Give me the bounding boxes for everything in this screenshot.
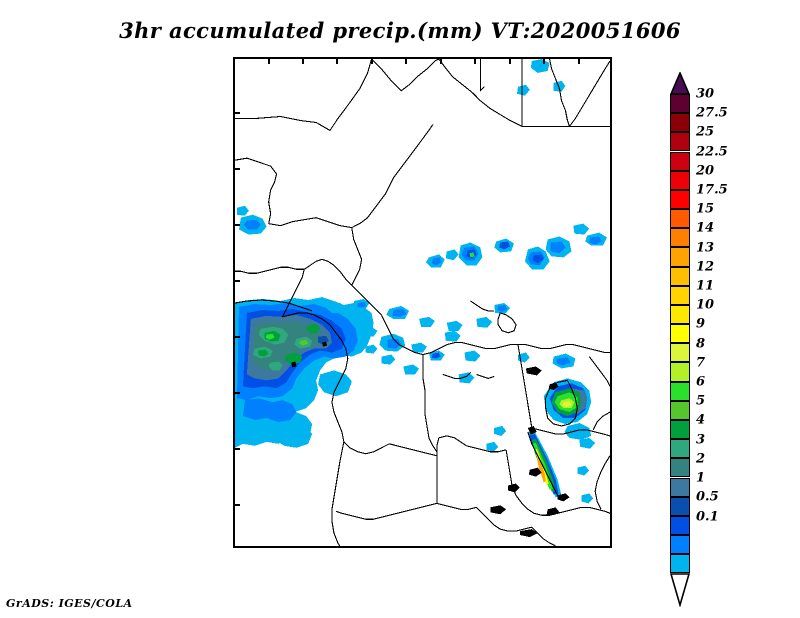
colorbar-label: 8: [696, 337, 705, 352]
map-canvas: [235, 59, 610, 546]
colorbar-label: 11: [696, 279, 714, 294]
colorbar-label: 3: [696, 433, 705, 448]
y-tick-label: EQ: [233, 330, 235, 344]
colorbar: 30 27.5 25 22.5 20 17.5 15 14 13 12 11 1…: [670, 72, 690, 557]
x-tick-label: 15E: [393, 546, 419, 548]
x-tick-label: 30E: [566, 546, 592, 548]
y-tick-label: 5N: [233, 274, 235, 288]
colorbar-label: 22.5: [696, 145, 728, 160]
y-tick-label: 10N: [233, 218, 235, 232]
x-tick-label: 12E: [359, 546, 385, 548]
y-tick-label: 15S: [233, 498, 235, 512]
x-tick-label: 9E: [328, 546, 346, 548]
colorbar-label: 15: [696, 202, 714, 217]
colorbar-label: 0.5: [696, 490, 719, 505]
colorbar-label: 10: [696, 298, 714, 313]
colorbar-label: 20: [696, 164, 714, 179]
colorbar-label: 7: [696, 356, 705, 371]
x-tick-label: 6E: [294, 546, 312, 548]
colorbar-under-arrow: [670, 573, 690, 607]
x-tick-label: 18E: [428, 546, 454, 548]
colorbar-label: 12: [696, 260, 714, 275]
colorbar-label: 25: [696, 125, 714, 140]
x-tick-label: 3E: [260, 546, 278, 548]
y-tick-label: 15N: [233, 162, 235, 176]
map-plot-area: 20N 15N 10N 5N EQ 5S 10S 15S 3E 6E 9E 12…: [233, 57, 612, 548]
colorbar-label: 6: [696, 375, 705, 390]
colorbar-segments: [670, 94, 690, 535]
y-tick-label: 20N: [233, 106, 235, 120]
colorbar-over-arrow: [670, 72, 690, 95]
x-tick-label: 21E: [462, 546, 488, 548]
colorbar-label: 4: [696, 413, 705, 428]
colorbar-label: 0.1: [696, 510, 719, 525]
colorbar-label: 5: [696, 394, 705, 409]
x-tick-label: 24E: [497, 546, 523, 548]
colorbar-label: 30: [696, 87, 714, 102]
colorbar-label: 17.5: [696, 183, 728, 198]
footer-credit: GrADS: IGES/COLA: [6, 597, 133, 610]
x-tick-label: 33E: [600, 546, 612, 548]
colorbar-label: 27.5: [696, 106, 728, 121]
colorbar-label: 13: [696, 241, 714, 256]
colorbar-label: 14: [696, 221, 714, 236]
colorbar-label: 9: [696, 317, 705, 332]
precip-field: [235, 59, 607, 537]
colorbar-label: 2: [696, 452, 705, 467]
y-tick-label: 5S: [233, 386, 235, 400]
y-tick-label: 10S: [233, 442, 235, 456]
colorbar-label: 1: [696, 471, 705, 486]
page-title: 3hr accumulated precip.(mm) VT:202005160…: [0, 18, 800, 43]
x-tick-label: 27E: [531, 546, 557, 548]
